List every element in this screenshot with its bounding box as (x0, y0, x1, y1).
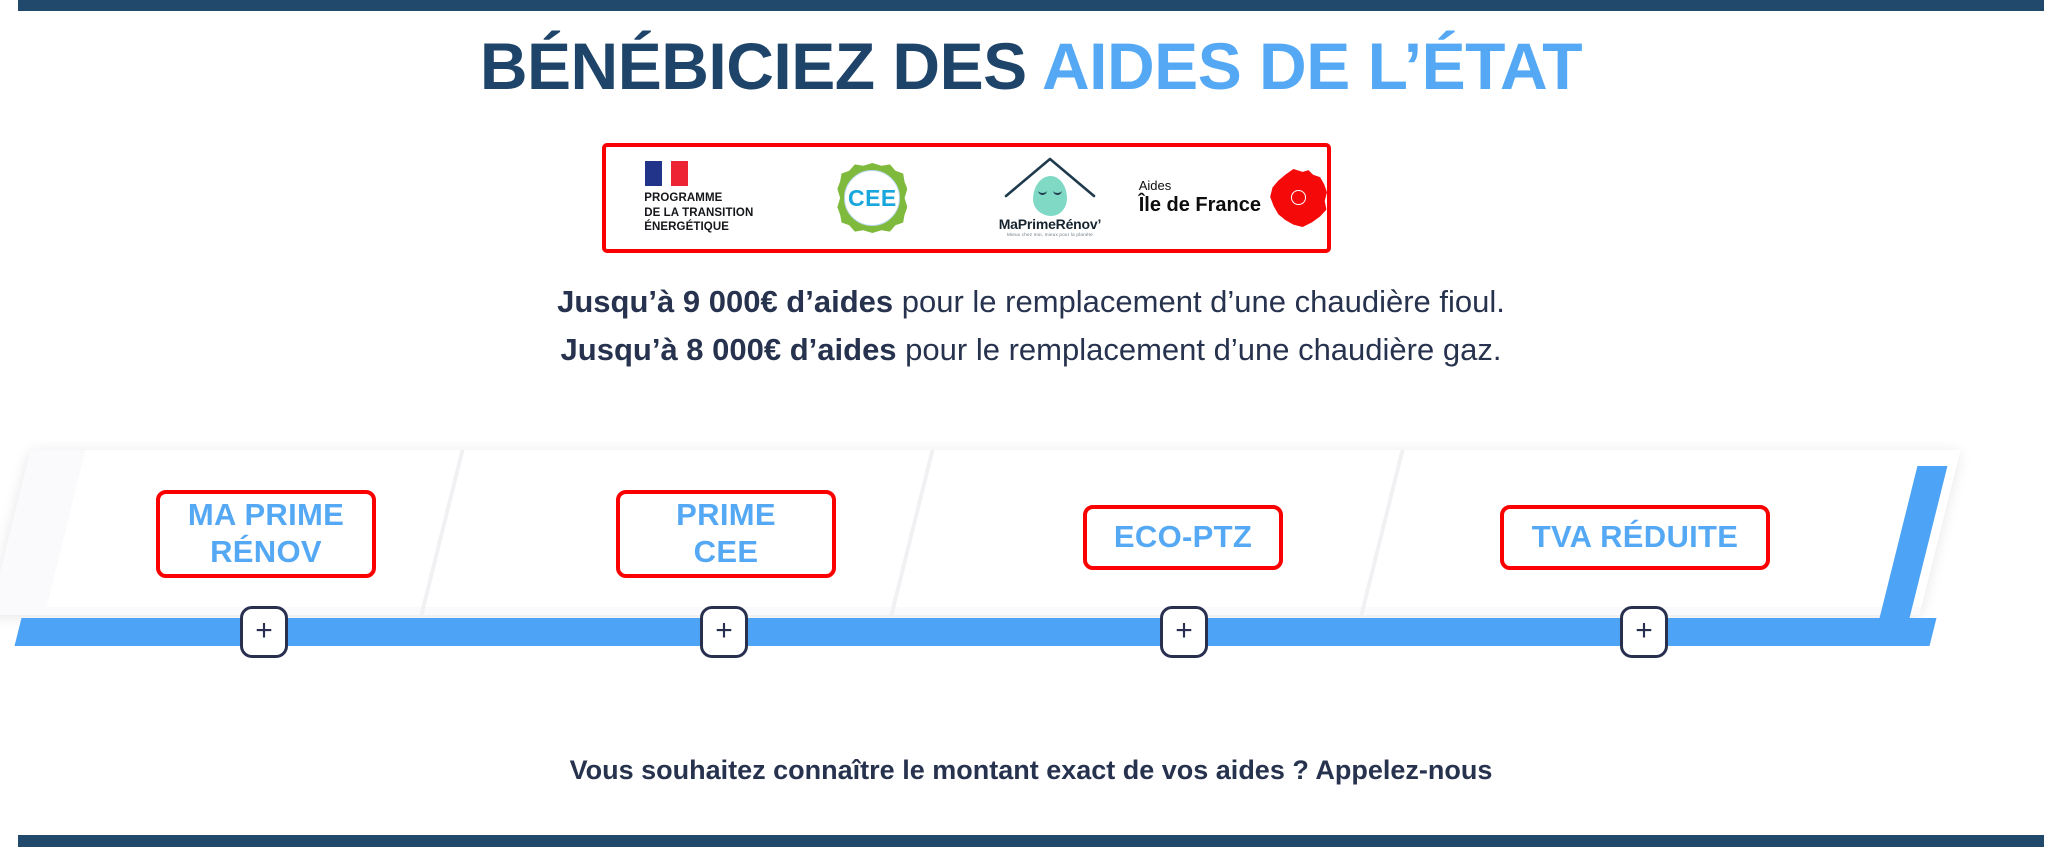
partner-logo-strip: PROGRAMME DE LA TRANSITION ÉNERGÉTIQUE C… (602, 143, 1331, 253)
idf-big-label: Île de France (1139, 194, 1261, 217)
aid-card-prime-cee[interactable]: PRIME CEE (616, 490, 836, 578)
maprimerenov-name: MaPrimeRénov’ (975, 216, 1125, 232)
logo-aides-ile-de-france: Aides Île de France (1139, 147, 1327, 249)
page-title-light-part: AIDES DE L’ÉTAT (1042, 29, 1582, 103)
bottom-divider-bar (18, 835, 2044, 847)
subtitle-gaz-rest: pour le remplacement d’une chaudière gaz… (897, 332, 1502, 367)
cee-badge-inner: CEE (844, 170, 900, 226)
subtitle-line-fioul: Jusqu’à 9 000€ d’aides pour le remplacem… (0, 278, 2062, 326)
page-title: BÉNÉBICIEZ DES AIDES DE L’ÉTAT (0, 32, 2062, 101)
subtitle-fioul-bold: Jusqu’à 9 000€ d’aides (557, 284, 893, 319)
aid-amount-subtitles: Jusqu’à 9 000€ d’aides pour le remplacem… (0, 278, 2062, 374)
programme-line-2: DE LA TRANSITION (644, 206, 753, 221)
aid-card-tva-reduite[interactable]: TVA RÉDUITE (1500, 505, 1770, 570)
aids-ribbon: MA PRIME RÉNOV PRIME CEE ECO-PTZ TVA RÉD… (0, 450, 2062, 670)
aid-toggle-tva-reduite[interactable]: + (1620, 606, 1668, 658)
subtitle-fioul-rest: pour le remplacement d’une chaudière fio… (893, 284, 1505, 319)
logo-maprimerenov: MaPrimeRénov’ Mieux chez moi, mieux pour… (961, 147, 1139, 249)
aid-toggle-eco-ptz[interactable]: + (1160, 606, 1208, 658)
subtitle-gaz-bold: Jusqu’à 8 000€ d’aides (561, 332, 897, 367)
subtitle-line-gaz: Jusqu’à 8 000€ d’aides pour le remplacem… (0, 326, 2062, 374)
ile-de-france-map-icon (1269, 169, 1327, 227)
aid-card-ma-prime-renov[interactable]: MA PRIME RÉNOV (156, 490, 376, 578)
logo-cee: CEE (784, 147, 962, 249)
cee-label: CEE (848, 185, 897, 212)
aid-card-eco-ptz[interactable]: ECO-PTZ (1083, 505, 1283, 570)
top-divider-bar (18, 0, 2044, 11)
aid-toggle-ma-prime-renov[interactable]: + (240, 606, 288, 658)
programme-line-1: PROGRAMME (644, 191, 753, 206)
idf-small-label: Aides (1139, 179, 1261, 193)
aid-toggle-prime-cee[interactable]: + (700, 606, 748, 658)
page-title-dark-part: BÉNÉBICIEZ DES (480, 29, 1042, 103)
programme-line-3: ÉNERGÉTIQUE (644, 220, 753, 235)
maprimerenov-face-icon (1033, 176, 1067, 216)
logo-programme-transition-energetique: PROGRAMME DE LA TRANSITION ÉNERGÉTIQUE (606, 147, 784, 249)
french-flag-icon (645, 161, 753, 186)
footer-call-question: Vous souhaitez connaître le montant exac… (0, 755, 2062, 786)
maprimerenov-tagline: Mieux chez moi, mieux pour la planète (975, 232, 1125, 237)
